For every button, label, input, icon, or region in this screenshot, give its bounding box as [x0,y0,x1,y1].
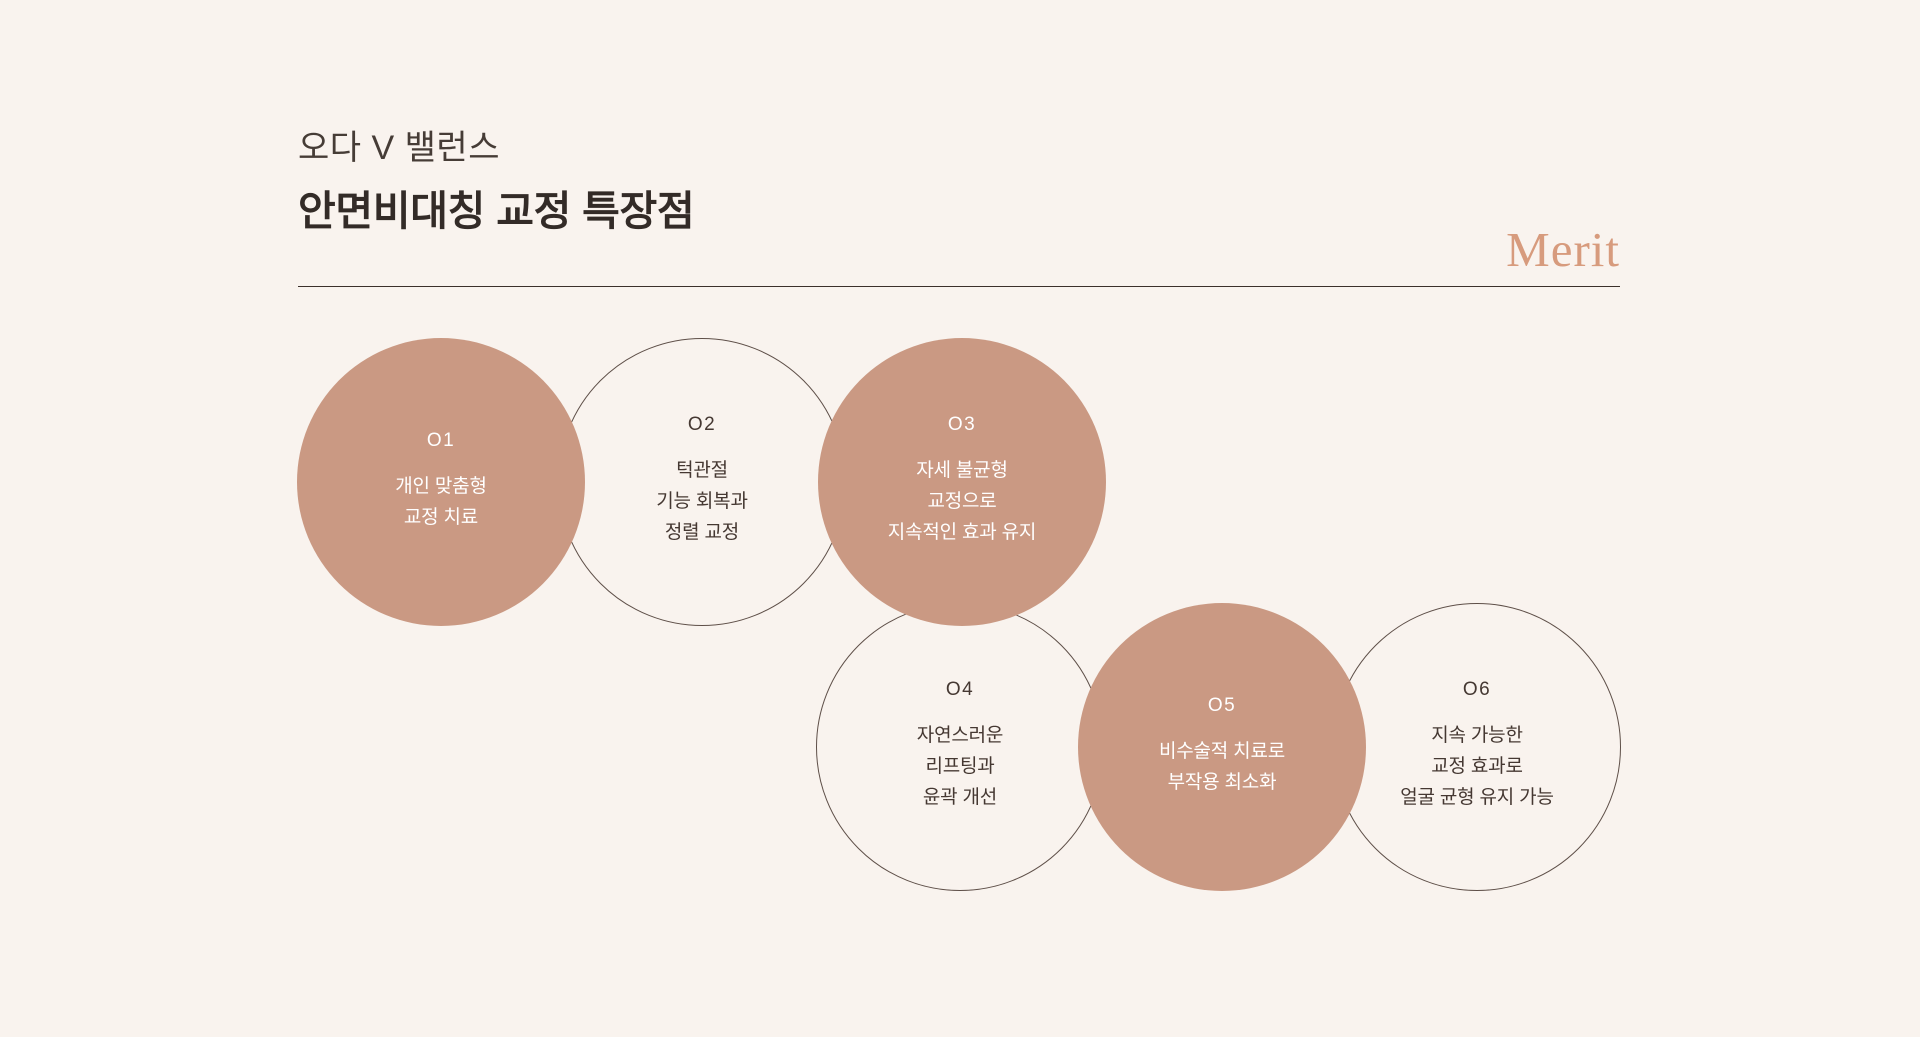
header-eyebrow: 오다 V 밸런스 [298,128,1620,169]
header-text-group: 오다 V 밸런스 안면비대칭 교정 특장점 Merit [298,128,1620,288]
merit-circle-01[interactable]: O1 개인 맞춤형 교정 치료 [297,338,585,626]
merit-circle-03-text: 자세 불균형 교정으로 지속적인 효과 유지 [888,456,1036,548]
merit-label: Merit [1506,225,1620,274]
merit-circle-02-number: O2 [688,415,716,434]
header-divider [298,286,1620,287]
page-header: 오다 V 밸런스 안면비대칭 교정 특장점 Merit [298,128,1620,288]
merit-circle-02-text: 턱관절 기능 회복과 정렬 교정 [656,456,747,548]
merit-circle-06-text: 지속 가능한 교정 효과로 얼굴 균형 유지 가능 [1400,721,1553,813]
merit-circle-05[interactable]: O5 비수술적 치료로 부작용 최소화 [1078,603,1366,891]
merit-circle-02[interactable]: O2 턱관절 기능 회복과 정렬 교정 [558,338,846,626]
merit-circle-04-number: O4 [946,680,974,699]
merit-circle-03-number: O3 [948,415,976,434]
merit-circle-01-text: 개인 맞춤형 교정 치료 [395,472,486,534]
merit-circle-05-number: O5 [1208,696,1236,715]
merit-circle-04-text: 자연스러운 리프팅과 윤곽 개선 [917,721,1003,813]
merit-circle-03[interactable]: O3 자세 불균형 교정으로 지속적인 효과 유지 [818,338,1106,626]
merit-circle-05-text: 비수술적 치료로 부작용 최소화 [1159,737,1285,799]
merit-circle-04[interactable]: O4 자연스러운 리프팅과 윤곽 개선 [816,603,1104,891]
merit-circle-01-number: O1 [427,431,455,450]
merit-circle-06-number: O6 [1463,680,1491,699]
page-title: 안면비대칭 교정 특장점 [298,187,1620,236]
merit-circle-06[interactable]: O6 지속 가능한 교정 효과로 얼굴 균형 유지 가능 [1333,603,1621,891]
